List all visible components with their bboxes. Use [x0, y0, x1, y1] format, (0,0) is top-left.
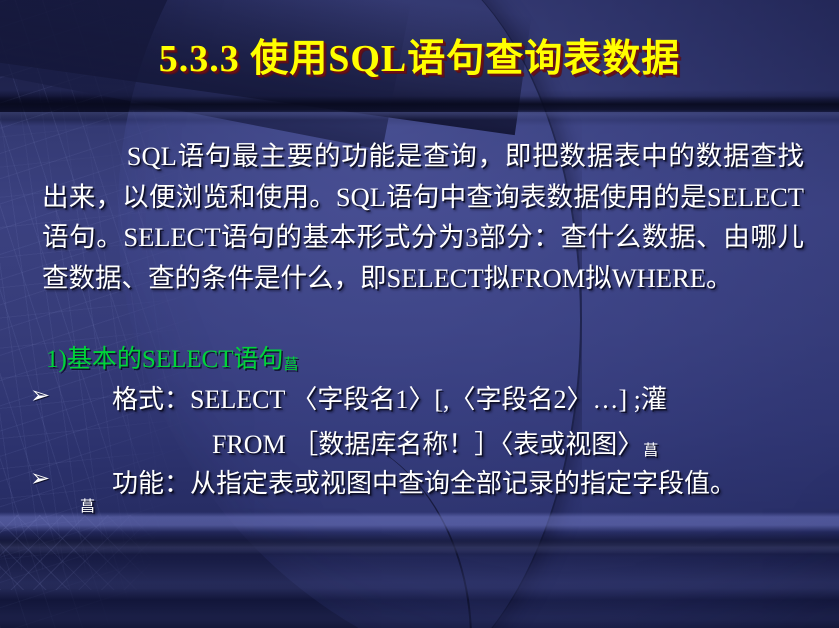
section-heading-text: 1)基本的SELECT语句 — [46, 346, 284, 373]
bullet-text-function: 功能：从指定表或视图中查询全部记录的指定字段值。 — [112, 469, 736, 498]
bullet-text-format: 格式：SELECT 〈字段名1〉[,〈字段名2〉…] ;灌 — [112, 385, 667, 414]
title-divider-glow — [0, 112, 839, 120]
bullet-text-from: FROM ［数据库名称！］〈表或视图〉 — [212, 430, 643, 459]
presentation-slide: 5.3.3 使用SQL语句查询表数据 SQL语句最主要的功能是查询，即把数据表中… — [0, 0, 839, 628]
slide-body: SQL语句最主要的功能是查询，即把数据表中的数据查找出来，以便浏览和使用。SQL… — [42, 136, 804, 298]
section-heading-row: 1)基本的SELECT语句菖 — [46, 343, 298, 382]
bullet-row-format: 格式：SELECT 〈字段名1〉[,〈字段名2〉…] ;灌 — [112, 382, 667, 424]
section-heading-glyph: 菖 — [284, 357, 298, 373]
body-paragraph: SQL语句最主要的功能是查询，即把数据表中的数据查找出来，以便浏览和使用。SQL… — [42, 136, 804, 298]
bullet-row-trailing: 菖 — [80, 497, 95, 517]
bullet-glyph-from: 菖 — [643, 443, 657, 459]
bullet-arrow-icon-2: ➢ — [30, 464, 50, 493]
slide-title: 5.3.3 使用SQL语句查询表数据 — [0, 27, 839, 82]
bullet-row-from: FROM ［数据库名称！］〈表或视图〉菖 — [212, 427, 657, 469]
bullet-glyph-trailing: 菖 — [80, 499, 95, 515]
bullet-arrow-icon-1: ➢ — [30, 381, 50, 410]
crosshatch-decoration — [0, 515, 170, 590]
bullet-row-function: 功能：从指定表或视图中查询全部记录的指定字段值。 — [112, 466, 736, 508]
